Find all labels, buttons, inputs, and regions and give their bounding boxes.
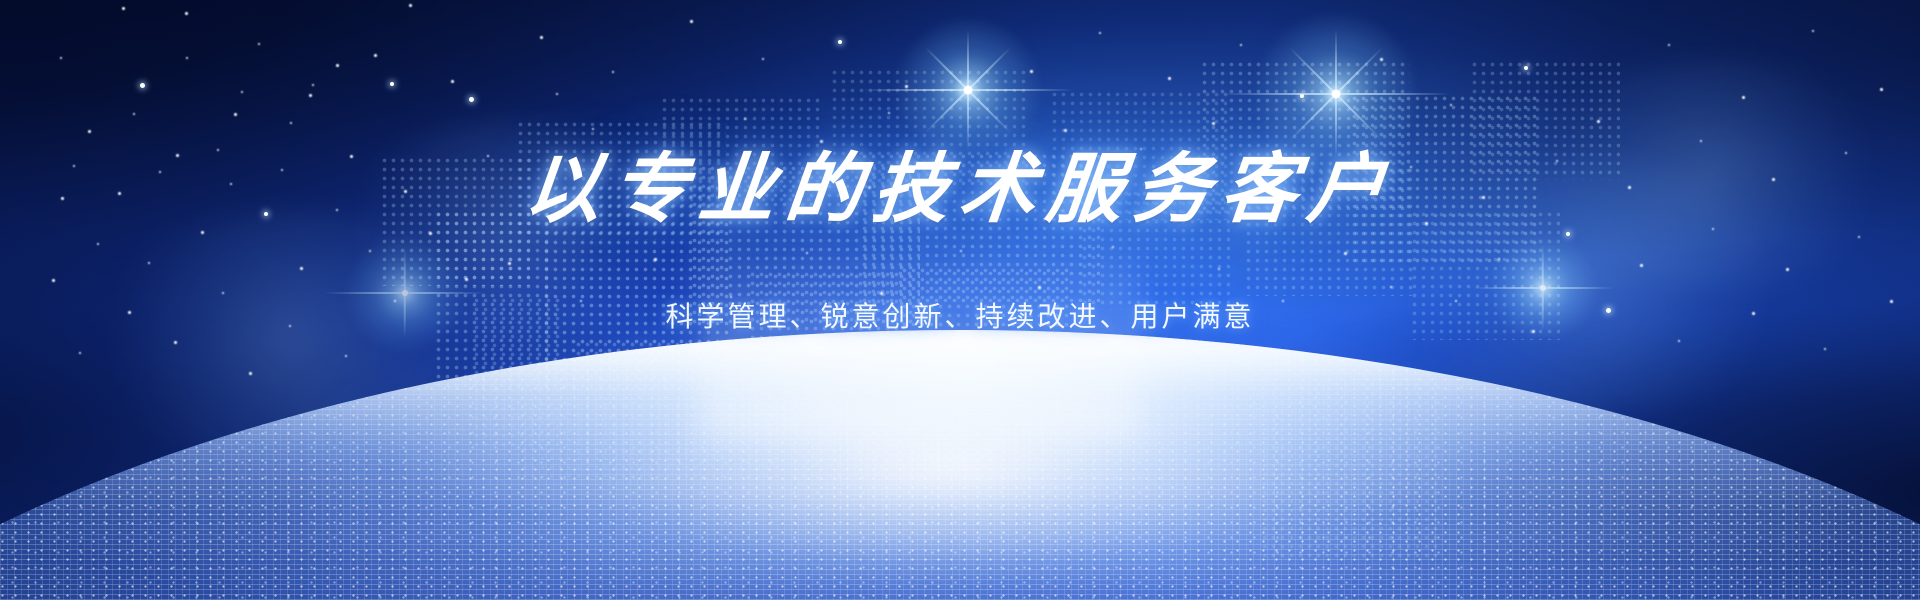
banner-subtitle: 科学管理、锐意创新、持续改进、用户满意 bbox=[0, 300, 1920, 334]
banner-headline: 以专业的技术服务客户 bbox=[0, 146, 1920, 232]
hero-banner: 以专业的技术服务客户 科学管理、锐意创新、持续改进、用户满意 bbox=[0, 0, 1920, 600]
